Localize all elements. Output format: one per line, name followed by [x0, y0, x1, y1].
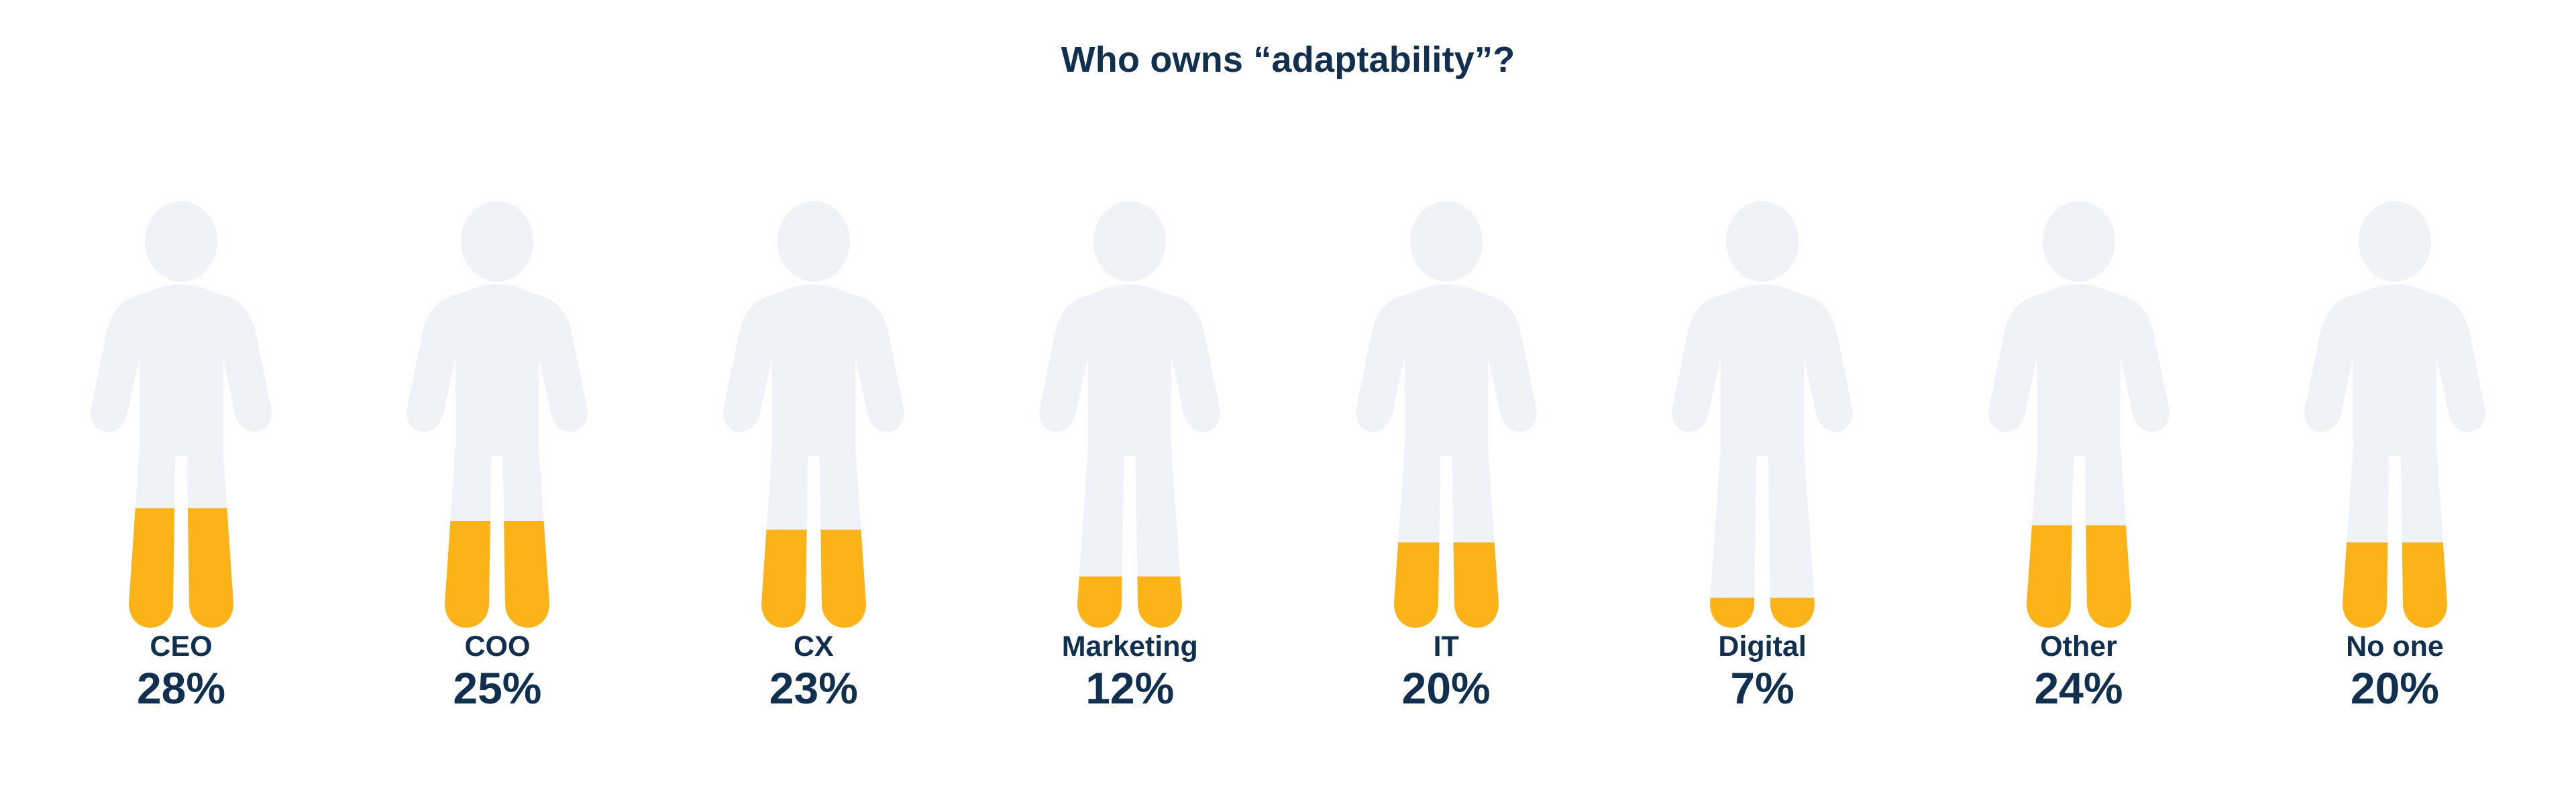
- category-label: CX: [673, 630, 955, 663]
- category-label: IT: [1305, 630, 1587, 663]
- person-icon: [713, 201, 914, 630]
- pictogram-figure-it: [1305, 201, 1587, 630]
- person-icon: [1029, 201, 1230, 630]
- person-torso-icon: [723, 284, 904, 456]
- person-icon: [1346, 201, 1547, 630]
- pictogram-figure-coo: [356, 201, 638, 630]
- person-head-icon: [1410, 201, 1483, 282]
- person-base-shape: [2304, 201, 2485, 628]
- pictogram-figure-ceo: [40, 201, 322, 630]
- category-label: Other: [1938, 630, 2220, 663]
- person-torso-icon: [1988, 284, 2169, 456]
- pictogram-figures-row: [0, 161, 2576, 630]
- pictogram-figure-digital: [1621, 201, 1903, 630]
- value-label: 25%: [356, 664, 638, 714]
- value-label: 28%: [40, 664, 322, 714]
- person-head-icon: [2359, 201, 2431, 282]
- value-label: 12%: [989, 664, 1271, 714]
- person-head-icon: [777, 201, 850, 282]
- category-label: Marketing: [989, 630, 1271, 663]
- person-torso-icon: [407, 284, 588, 456]
- category-label: Digital: [1621, 630, 1903, 663]
- category-label: No one: [2254, 630, 2536, 663]
- value-label: 20%: [1305, 664, 1587, 714]
- person-torso-icon: [2304, 284, 2485, 456]
- person-base-shape: [1672, 201, 1853, 628]
- person-torso-icon: [1672, 284, 1853, 456]
- person-base-shape: [723, 201, 904, 628]
- pictogram-chart: Who owns “adaptability”? CEO28%COO25%CX2…: [0, 0, 2576, 794]
- person-base-shape: [407, 201, 588, 628]
- pictogram-label-cx: CX23%: [673, 630, 955, 714]
- value-label: 7%: [1621, 664, 1903, 714]
- pictogram-label-ceo: CEO28%: [40, 630, 322, 714]
- pictogram-label-it: IT20%: [1305, 630, 1587, 714]
- chart-title: Who owns “adaptability”?: [0, 40, 2576, 80]
- person-head-icon: [1726, 201, 1799, 282]
- pictogram-figure-other: [1938, 201, 2220, 630]
- value-label: 23%: [673, 664, 955, 714]
- pictogram-label-digital: Digital7%: [1621, 630, 1903, 714]
- person-base-shape: [1356, 201, 1537, 628]
- pictogram-labels-row: CEO28%COO25%CX23%Marketing12%IT20%Digita…: [0, 630, 2576, 714]
- person-icon: [1978, 201, 2180, 630]
- person-left-leg-icon: [1710, 427, 1757, 628]
- person-icon: [80, 201, 282, 630]
- person-head-icon: [1093, 201, 1166, 282]
- person-base-shape: [1039, 201, 1220, 628]
- person-head-icon: [2043, 201, 2115, 282]
- person-torso-icon: [1039, 284, 1220, 456]
- pictogram-label-coo: COO25%: [356, 630, 638, 714]
- person-icon: [2294, 201, 2495, 630]
- person-base-shape: [1988, 201, 2169, 628]
- person-base-shape: [91, 201, 272, 628]
- person-right-leg-icon: [1768, 427, 1815, 628]
- category-label: COO: [356, 630, 638, 663]
- category-label: CEO: [40, 630, 322, 663]
- person-torso-icon: [91, 284, 272, 456]
- pictogram-figure-marketing: [989, 201, 1271, 630]
- person-head-icon: [145, 201, 217, 282]
- person-torso-icon: [1356, 284, 1537, 456]
- pictogram-label-marketing: Marketing12%: [989, 630, 1271, 714]
- pictogram-label-other: Other24%: [1938, 630, 2220, 714]
- value-label: 24%: [1938, 664, 2220, 714]
- person-head-icon: [461, 201, 533, 282]
- person-icon: [396, 201, 598, 630]
- pictogram-label-no-one: No one20%: [2254, 630, 2536, 714]
- person-icon: [1662, 201, 1863, 630]
- pictogram-figure-cx: [673, 201, 955, 630]
- pictogram-figure-no-one: [2254, 201, 2536, 630]
- value-label: 20%: [2254, 664, 2536, 714]
